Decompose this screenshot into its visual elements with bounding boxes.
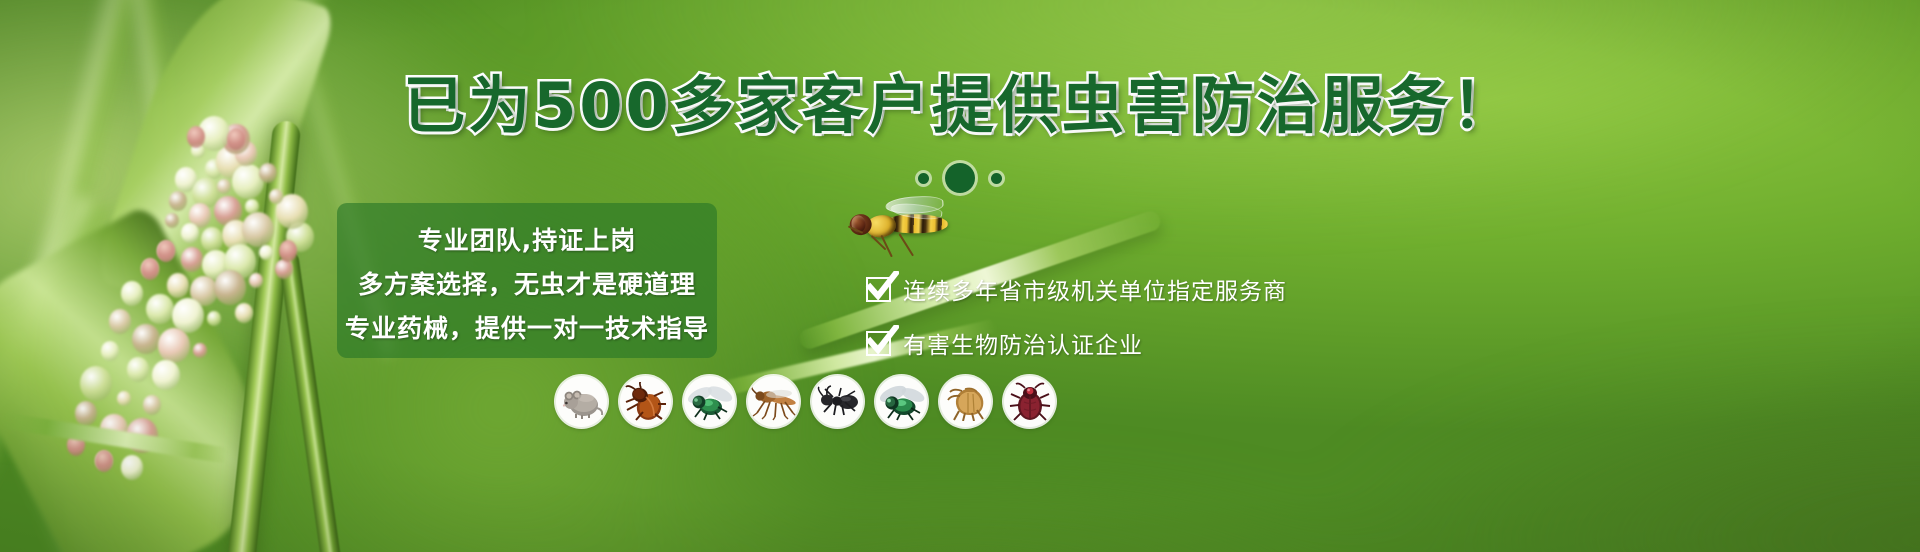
pest-icon-row: 鼠 蟑螂 [556,376,1055,427]
decor-dot-large-center [945,163,975,193]
bedbug-icon[interactable]: 臭虫 [1004,376,1055,427]
blowfly-icon[interactable]: 绿头蝇 [876,376,927,427]
pest-control-banner: 已为500多家客户提供虫害防治服务！ 专业团队,持证上岗 多方案选择，无虫才是硬… [0,0,1920,552]
mouse-icon[interactable]: 鼠 [556,376,607,427]
checklist-item: 有害生物防治认证企业 [866,326,1287,360]
banner-headline-text: 已为500多家客户提供虫害防治服务！ [403,69,1516,142]
decor-dot-small-right [991,173,1002,184]
checklist-item-text: 有害生物防治认证企业 [903,326,1143,360]
cockroach-icon[interactable]: 蟑螂 [620,376,671,427]
checklist-item-text: 连续多年省市级机关单位指定服务商 [903,272,1287,306]
selling-point-line-2: 多方案选择，无虫才是硬道理 [337,265,717,301]
checklist-item: 连续多年省市级机关单位指定服务商 [866,272,1287,306]
flea-icon[interactable]: 跳蚤 [940,376,991,427]
decor-dot-small-left [918,173,929,184]
banner-headline: 已为500多家客户提供虫害防治服务！ [0,72,1920,140]
credentials-checklist: 连续多年省市级机关单位指定服务商 有害生物防治认证企业 [866,272,1287,360]
mosquito-icon[interactable]: 蚊 [748,376,799,427]
ant-icon[interactable]: 蚂蚁 [812,376,863,427]
fly-icon[interactable]: 苍蝇 [684,376,735,427]
selling-points-panel: 专业团队,持证上岗 多方案选择，无虫才是硬道理 专业药械，提供一对一技术指导 [337,203,717,358]
checkbox-checked-icon [866,277,891,302]
selling-point-line-3: 专业药械，提供一对一技术指导 [337,309,717,345]
checkbox-checked-icon [866,331,891,356]
selling-point-line-1: 专业团队,持证上岗 [337,221,717,257]
decor-dot-group [0,163,1920,193]
